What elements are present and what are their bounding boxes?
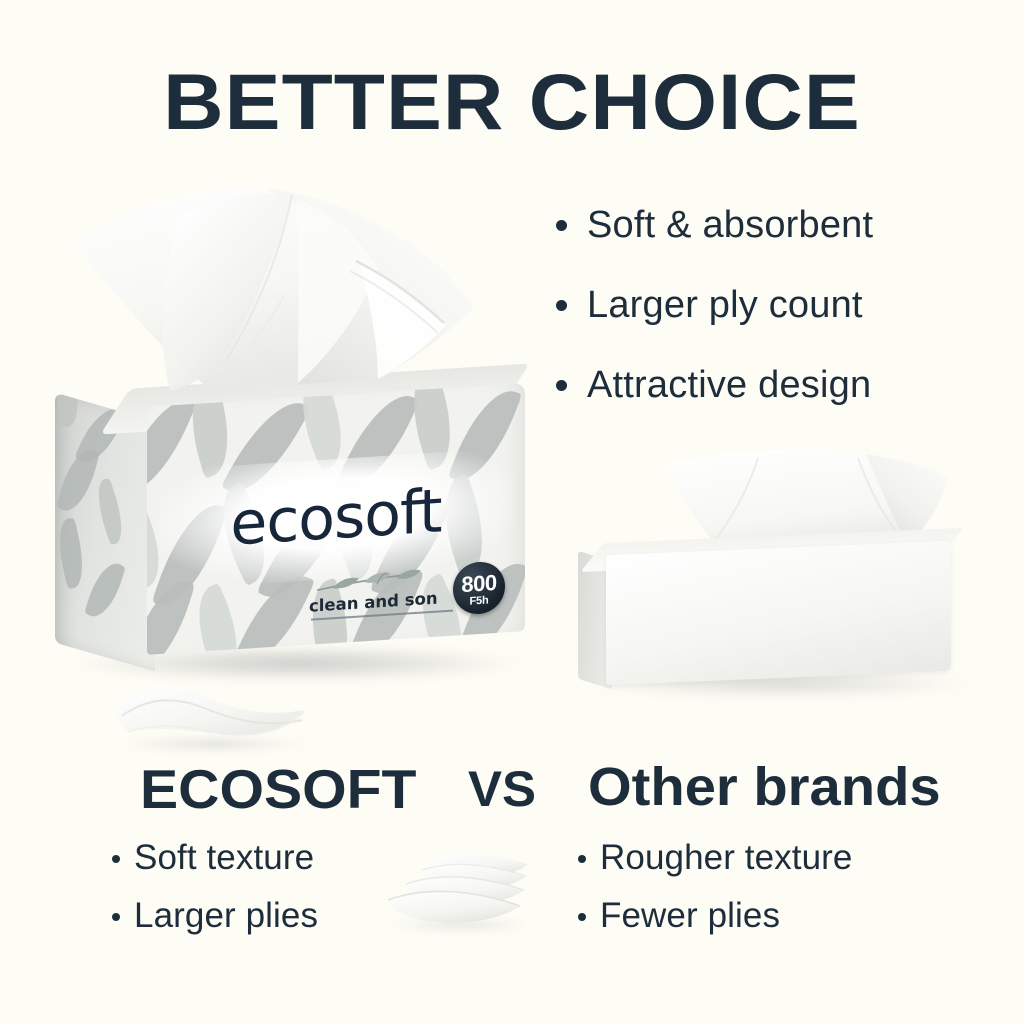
- comparison-left-item-label: Soft texture: [134, 838, 314, 878]
- bullet-dot-icon: [112, 913, 120, 921]
- bullet-dot-icon: [556, 380, 567, 391]
- competitor-product-box: [578, 448, 978, 698]
- bullet-dot-icon: [112, 855, 120, 863]
- comparison-separator: VS: [468, 760, 536, 818]
- benefit-label: Larger ply count: [587, 284, 863, 327]
- ecosoft-box-front-face: ecosoft clean and son 800 F5h: [147, 383, 525, 655]
- comparison-right-item-label: Rougher texture: [600, 838, 852, 878]
- bullet-dot-icon: [556, 300, 567, 311]
- comparison-right-item-label: Fewer plies: [600, 896, 780, 936]
- list-item: Soft & absorbent: [556, 204, 976, 247]
- ecosoft-product-box: ecosoft clean and son 800 F5h: [55, 395, 525, 670]
- list-item: Larger plies: [112, 896, 412, 936]
- comparison-right-list: Rougher texture Fewer plies: [578, 838, 958, 954]
- wave-tissue-sheet: [112, 678, 312, 758]
- list-item: Larger ply count: [556, 284, 976, 327]
- comparison-header: ECOSOFT VS Other brands: [0, 757, 1024, 817]
- comparison-left-item-label: Larger plies: [134, 896, 318, 936]
- count-badge: 800 F5h: [453, 560, 505, 615]
- list-item: Rougher texture: [578, 838, 958, 878]
- bullet-dot-icon: [578, 855, 586, 863]
- comparison-left-title: ECOSOFT: [140, 757, 416, 821]
- leaf-pattern: [55, 393, 155, 672]
- ecosoft-box-side-panel: [55, 393, 155, 672]
- page-title: BETTER CHOICE: [0, 62, 1024, 141]
- competitor-box-front-face: [606, 541, 951, 685]
- bullet-dot-icon: [556, 220, 567, 231]
- benefits-list: Soft & absorbent Larger ply count Attrac…: [556, 204, 976, 444]
- comparison-right-title: Other brands: [588, 756, 941, 818]
- infographic-canvas: BETTER CHOICE Soft & absorbent Larger pl…: [0, 0, 1024, 1024]
- count-badge-number: 800: [453, 560, 505, 596]
- list-item: Attractive design: [556, 364, 976, 407]
- list-item: Soft texture: [112, 838, 412, 878]
- benefit-label: Attractive design: [587, 364, 871, 407]
- bullet-dot-icon: [578, 913, 586, 921]
- list-item: Fewer plies: [578, 896, 958, 936]
- comparison-left-list: Soft texture Larger plies: [112, 838, 412, 954]
- benefit-label: Soft & absorbent: [587, 204, 873, 247]
- ecosoft-tissue-plume: [60, 185, 480, 415]
